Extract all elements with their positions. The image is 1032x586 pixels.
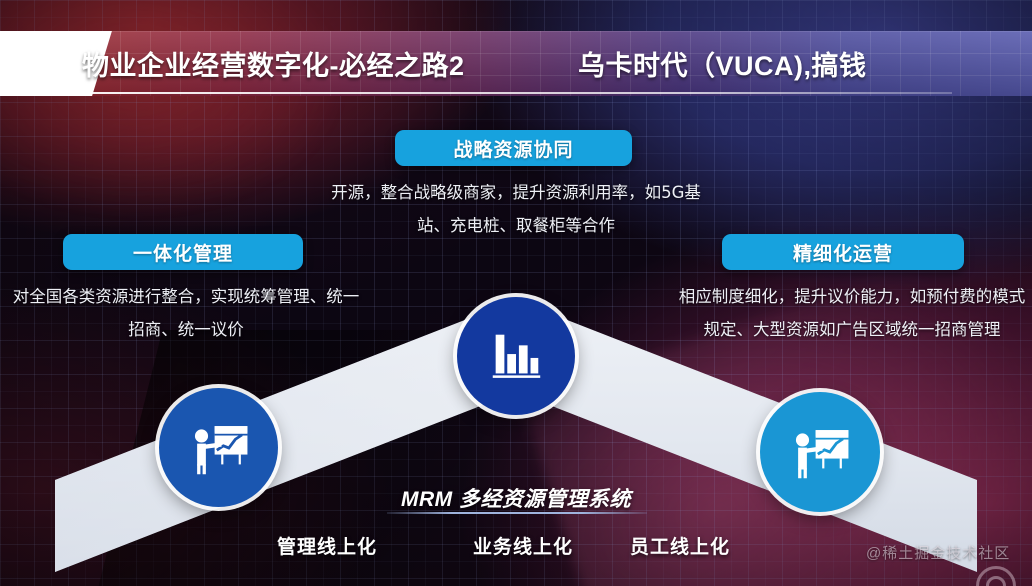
node-center[interactable] [457, 297, 575, 415]
bar-chart-icon [485, 325, 547, 387]
node-right[interactable] [760, 392, 880, 512]
badge-integrated-management[interactable]: 一体化管理 [63, 234, 303, 270]
presentation-person-icon [785, 417, 855, 487]
node-left[interactable] [159, 388, 278, 507]
description-strategy: 开源，整合战略级商家，提升资源利用率，如5G基站、充电桩、取餐柜等合作 [330, 176, 702, 242]
badge-refined-operation[interactable]: 精细化运营 [722, 234, 964, 270]
footer-item-management: 管理线上化 [277, 532, 377, 559]
footer-item-business: 业务线上化 [473, 532, 573, 559]
watermark-text: @稀土掘金技术社区 [866, 542, 1010, 563]
system-name: MRM 多经资源管理系统 [330, 483, 702, 513]
footer-item-staff: 员工线上化 [630, 532, 730, 559]
description-integrated-management: 对全国各类资源进行整合，实现统筹管理、统一招商、统一议价 [12, 280, 360, 346]
presentation-person-icon [184, 413, 254, 483]
badge-strategy[interactable]: 战略资源协同 [395, 130, 632, 166]
description-refined-operation: 相应制度细化，提升议价能力，如预付费的模式规定、大型资源如广告区域统一招商管理 [676, 280, 1028, 346]
slide-root: 物业企业经营数字化-必经之路2 乌卡时代（VUCA),搞钱 [0, 0, 1032, 586]
system-name-underline [387, 512, 647, 514]
